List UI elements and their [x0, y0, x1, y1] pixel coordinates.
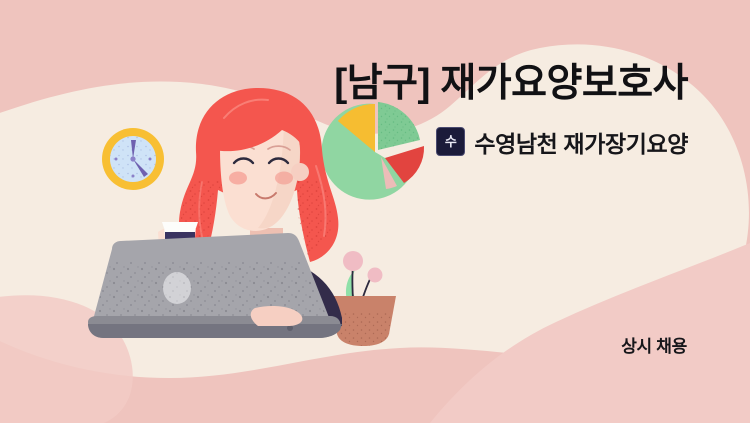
text-block: [남구] 재가요양보호사 수 수영남천 재가장기요양 [48, 62, 688, 159]
plant-flower-2 [368, 268, 383, 283]
plant-flower-1 [343, 251, 363, 271]
cheek-right [275, 172, 293, 185]
company-row: 수 수영남천 재가장기요양 [48, 125, 688, 159]
laptop-logo-texture [163, 272, 191, 304]
page-title: [남구] 재가요양보호사 [48, 62, 688, 107]
clock-mark-6 [132, 175, 135, 178]
job-posting-banner: [남구] 재가요양보호사 수 수영남천 재가장기요양 상시 채용 [0, 0, 750, 423]
company-logo-badge: 수 [436, 127, 465, 156]
company-name: 수영남천 재가장기요양 [474, 125, 688, 159]
laptop-base-shadow [88, 324, 342, 338]
cup-lid [162, 222, 198, 228]
ear [291, 163, 309, 181]
cheek-left [229, 172, 247, 185]
company-logo-char: 수 [445, 135, 457, 148]
status-badge: 상시 채용 [621, 332, 687, 357]
